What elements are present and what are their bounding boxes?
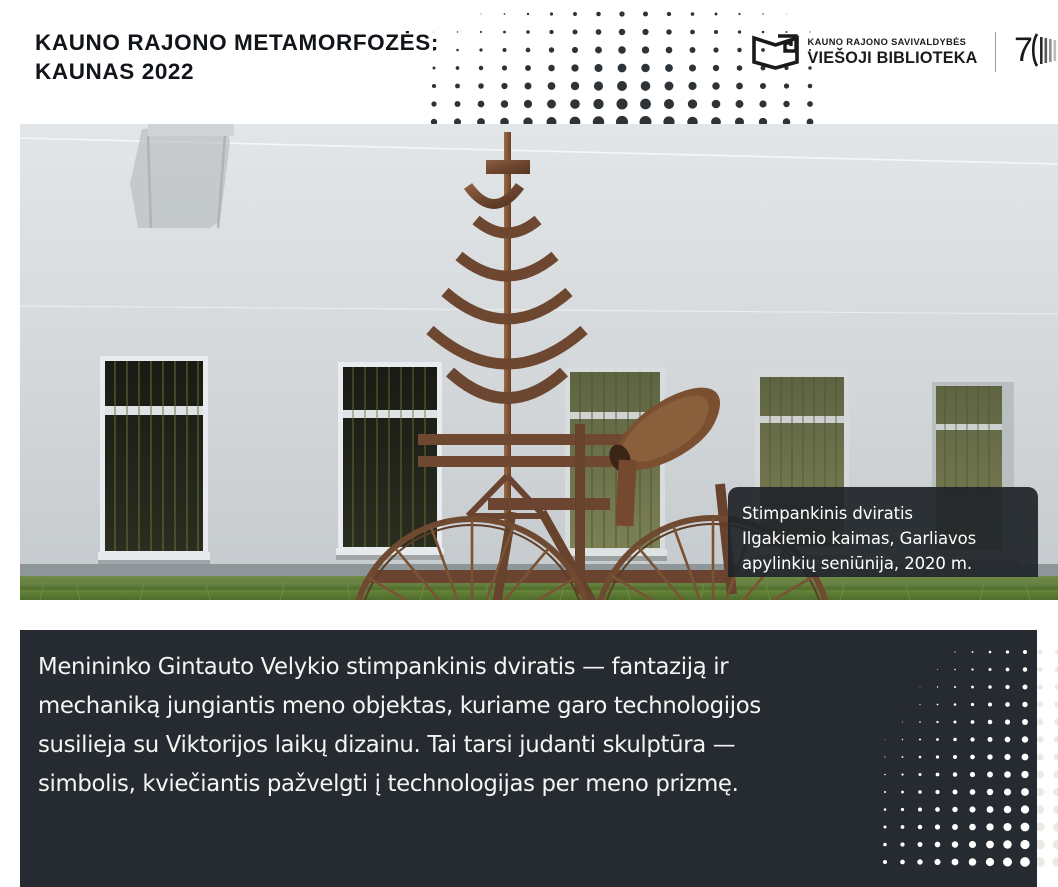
caption-line-3: apylinkių seniūnija, 2020 m. bbox=[742, 551, 1022, 576]
header: KAUNO RAJONO METAMORFOZĖS: KAUNAS 2022 K… bbox=[0, 0, 1058, 124]
description-text: Menininko Gintauto Velykio stimpankinis … bbox=[38, 648, 998, 804]
photo-caption: Stimpankinis dviratis Ilgakiemio kaimas,… bbox=[728, 487, 1038, 577]
description-line-2: mechaniką jungiantis meno objektas, kuri… bbox=[38, 687, 998, 726]
page-title: KAUNO RAJONO METAMORFOZĖS: KAUNAS 2022 bbox=[35, 28, 465, 86]
title-line-2: KAUNAS 2022 bbox=[35, 57, 465, 86]
title-line-1: KAUNO RAJONO METAMORFOZĖS: bbox=[35, 28, 465, 57]
logo-line-top: KAUNO RAJONO SAVIVALDYBĖS bbox=[808, 38, 978, 47]
library-logo[interactable]: KAUNO RAJONO SAVIVALDYBĖS VIEŠOJI BIBLIO… bbox=[752, 28, 1058, 76]
open-book-icon bbox=[752, 32, 799, 72]
caption-line-1: Stimpankinis dviratis bbox=[742, 501, 1022, 526]
description-line-4: simbolis, kviečiantis pažvelgti į techno… bbox=[38, 765, 998, 804]
anniversary-70-icon: 7 bbox=[1014, 28, 1058, 77]
panel-dot-pattern-overflow bbox=[1037, 630, 1058, 887]
logo-divider bbox=[995, 32, 997, 72]
svg-text:7: 7 bbox=[1014, 31, 1033, 69]
description-line-3: susilieja su Viktorijos laikų dizainu. T… bbox=[38, 726, 998, 765]
description-panel: Menininko Gintauto Velykio stimpankinis … bbox=[20, 630, 1037, 887]
logo-wordmark: KAUNO RAJONO SAVIVALDYBĖS VIEŠOJI BIBLIO… bbox=[808, 38, 978, 66]
description-line-1: Menininko Gintauto Velykio stimpankinis … bbox=[38, 648, 998, 687]
logo-line-bottom: VIEŠOJI BIBLIOTEKA bbox=[808, 50, 978, 66]
caption-line-2: Ilgakiemio kaimas, Garliavos bbox=[742, 526, 1022, 551]
photo-steampunk-bicycle: Stimpankinis dviratis Ilgakiemio kaimas,… bbox=[20, 124, 1058, 600]
